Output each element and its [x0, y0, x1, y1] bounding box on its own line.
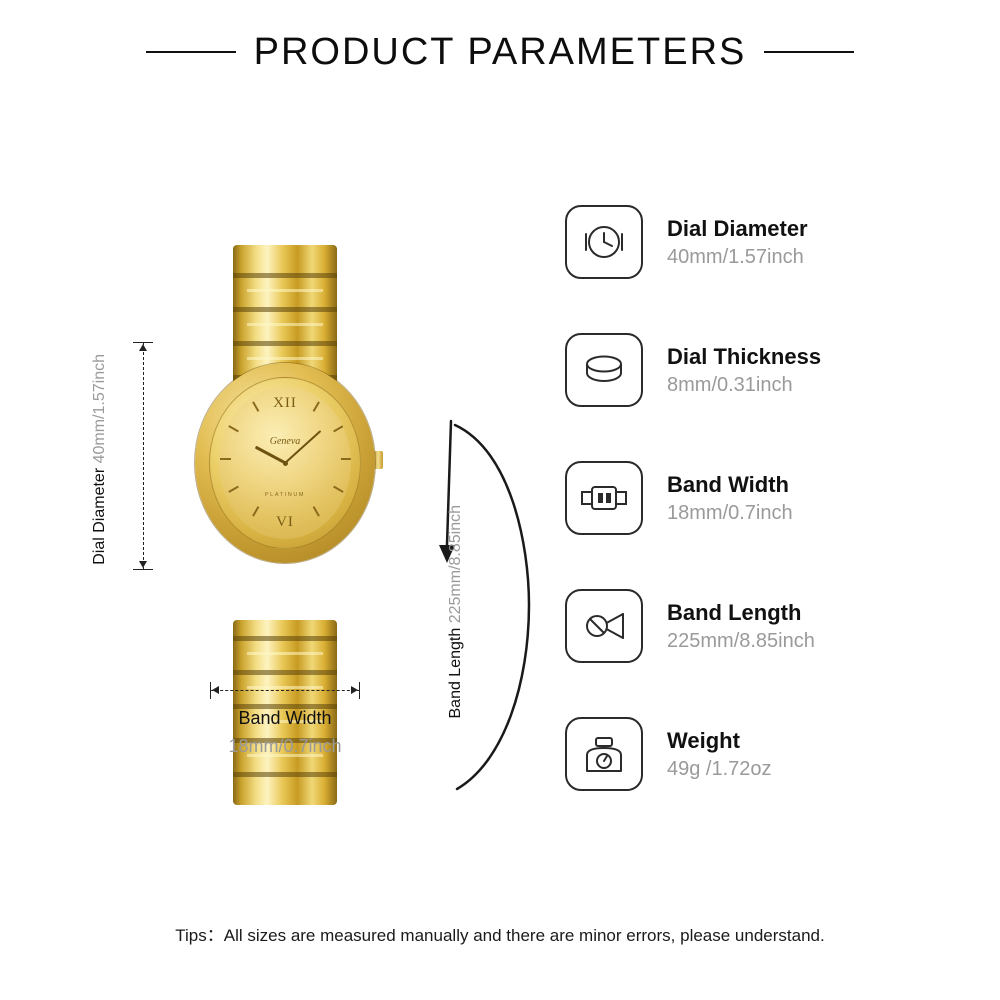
- header-rule-left: [146, 51, 236, 53]
- spec-name-band-width: Band Width: [667, 471, 793, 499]
- watch-bezel: XII VI Geneva PLATINUM: [209, 377, 361, 549]
- spec-text-band-length: Band Length 225mm/8.85inch: [667, 599, 815, 654]
- header-rule-right: [764, 51, 854, 53]
- dimension-band-length-label: Band Length 225mm/8.85inch: [447, 505, 465, 719]
- spec-row-dial-diameter: Dial Diameter 40mm/1.57inch: [565, 178, 965, 306]
- spec-value-dial-diameter: 40mm/1.57inch: [667, 246, 808, 269]
- spec-value-dial-thickness: 8mm/0.31inch: [667, 374, 821, 397]
- dimension-band-width-name: Band Width: [165, 708, 405, 729]
- dimension-arrow-up: [139, 344, 147, 351]
- dimension-arrow-left: [212, 686, 219, 694]
- spec-text-band-width: Band Width 18mm/0.7inch: [667, 471, 793, 526]
- dimension-line-vertical: [143, 342, 144, 570]
- dimension-cap-right: [359, 682, 360, 699]
- dimension-line-horizontal: [210, 690, 360, 691]
- page-title: PRODUCT PARAMETERS: [254, 31, 747, 74]
- dial-diameter-icon: [565, 205, 643, 279]
- page-header: PRODUCT PARAMETERS: [0, 22, 1000, 82]
- dimension-band-length-value: 225mm/8.85inch: [447, 505, 464, 623]
- footer-tips: Tips：All sizes are measured manually and…: [0, 921, 1000, 946]
- spec-row-band-length: Band Length 225mm/8.85inch: [565, 562, 965, 690]
- spec-row-weight: Weight 49g /1.72oz: [565, 690, 965, 818]
- product-illustration: XII VI Geneva PLATINUM Dial Diameter 40m…: [40, 150, 560, 830]
- spec-name-band-length: Band Length: [667, 599, 815, 627]
- spec-text-dial-thickness: Dial Thickness 8mm/0.31inch: [667, 343, 821, 398]
- dimension-band-width-value: 18mm/0.7inch: [165, 736, 405, 757]
- dial-brand: Geneva: [270, 436, 301, 447]
- watch-dial: XII VI Geneva PLATINUM: [219, 387, 351, 539]
- spec-row-dial-thickness: Dial Thickness 8mm/0.31inch: [565, 306, 965, 434]
- dimension-band-length-name: Band Length: [447, 628, 464, 719]
- dimension-cap-left: [210, 682, 211, 699]
- hour-hand: [254, 446, 285, 465]
- dimension-dial-diameter-name: Dial Diameter: [91, 468, 108, 565]
- dimension-arrow-down: [139, 561, 147, 568]
- dimension-dial-diameter-value: 40mm/1.57inch: [91, 354, 108, 463]
- dial-thickness-icon: [565, 333, 643, 407]
- band-width-icon: [565, 461, 643, 535]
- band-length-loop-icon: [425, 395, 545, 815]
- spec-value-weight: 49g /1.72oz: [667, 758, 772, 781]
- dial-subbrand: PLATINUM: [265, 492, 305, 498]
- dimension-dial-diameter-label: Dial Diameter 40mm/1.57inch: [91, 354, 109, 565]
- dial-center-pin: [283, 461, 288, 466]
- dimension-dial-diameter: Dial Diameter 40mm/1.57inch: [95, 342, 165, 570]
- spec-value-band-length: 225mm/8.85inch: [667, 630, 815, 653]
- spec-list: Dial Diameter 40mm/1.57inch Dial Thickne…: [565, 178, 965, 818]
- spec-text-weight: Weight 49g /1.72oz: [667, 727, 772, 782]
- dial-numeral-vi: VI: [276, 514, 294, 531]
- spec-name-dial-diameter: Dial Diameter: [667, 215, 808, 243]
- band-length-icon: [565, 589, 643, 663]
- spec-name-weight: Weight: [667, 727, 772, 755]
- dimension-cap-top: [133, 342, 153, 343]
- dimension-cap-bottom: [133, 569, 153, 570]
- watch-case: XII VI Geneva PLATINUM: [195, 363, 375, 563]
- dial-numeral-xii: XII: [273, 395, 297, 412]
- spec-row-band-width: Band Width 18mm/0.7inch: [565, 434, 965, 562]
- weight-scale-icon: [565, 717, 643, 791]
- spec-value-band-width: 18mm/0.7inch: [667, 502, 793, 525]
- spec-text-dial-diameter: Dial Diameter 40mm/1.57inch: [667, 215, 808, 270]
- dimension-arrow-right: [351, 686, 358, 694]
- spec-name-dial-thickness: Dial Thickness: [667, 343, 821, 371]
- dimension-band-length: Band Length 225mm/8.85inch: [425, 395, 545, 815]
